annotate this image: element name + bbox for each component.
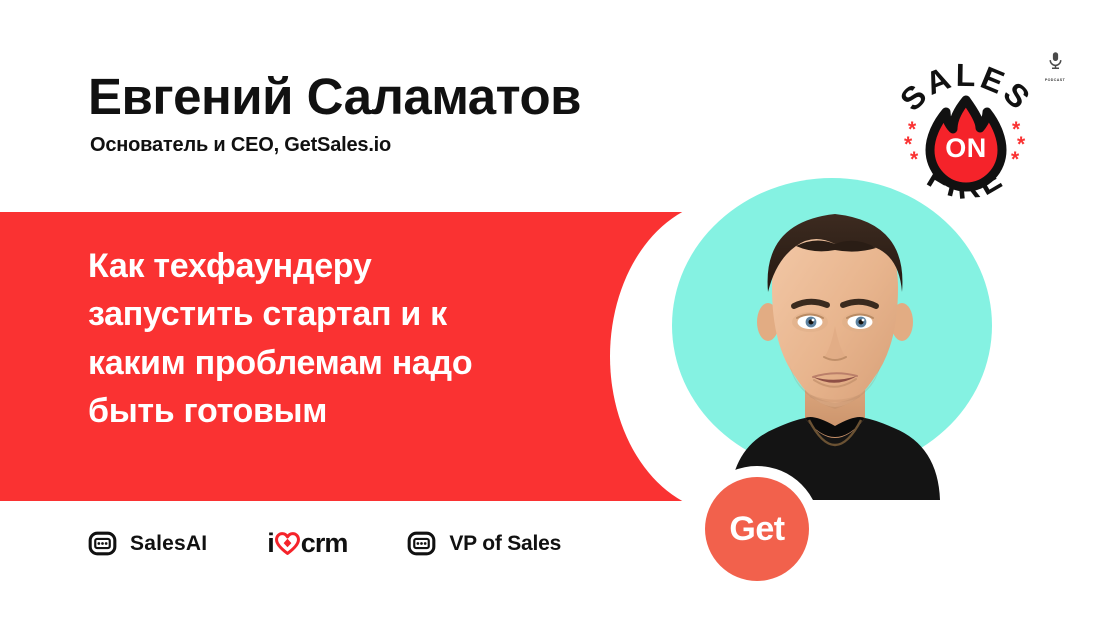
speaker-photo — [710, 170, 960, 500]
podcast-mark: PODCAST — [1038, 50, 1072, 86]
icrm-suffix: crm — [301, 528, 348, 559]
speaker-role: Основатель и CEO, GetSales.io — [90, 134, 391, 157]
logo-asterisks-right: * * * — [1011, 118, 1026, 171]
slide-canvas: Как техфаундеру запустить стартап и к ка… — [0, 0, 1120, 630]
sponsor-row: SalesAI i crm VP — [88, 528, 561, 559]
sales-on-fire-logo: SALES FIRE * * * * * * ON — [884, 52, 1048, 218]
flame-icon: ON — [930, 100, 1002, 187]
chat-bubble-icon — [88, 529, 117, 558]
chat-bubble-icon — [407, 529, 436, 558]
portrait-composition — [672, 178, 1012, 478]
sponsor-label: VP of Sales — [449, 532, 561, 556]
icrm-prefix: i — [267, 528, 274, 559]
svg-text:*: * — [1011, 148, 1020, 171]
get-badge[interactable]: Get — [705, 477, 809, 581]
heart-icon — [275, 532, 300, 555]
sponsor-label: SalesAI — [130, 532, 207, 556]
logo-asterisks-left: * * * — [904, 118, 919, 171]
podcast-label: PODCAST — [1038, 78, 1072, 82]
svg-text:*: * — [910, 148, 919, 171]
speaker-name: Евгений Саламатов — [88, 70, 581, 124]
sponsor-vp-of-sales[interactable]: VP of Sales — [407, 529, 561, 558]
sponsor-salesai[interactable]: SalesAI — [88, 529, 207, 558]
microphone-icon — [1045, 50, 1066, 72]
logo-center-text: ON — [945, 133, 987, 163]
get-badge-label: Get — [729, 510, 784, 549]
headline-text: Как техфаундеру запустить стартап и к ка… — [88, 242, 588, 435]
sponsor-icrm[interactable]: i crm — [267, 528, 347, 559]
icrm-wordmark: i crm — [267, 528, 347, 559]
